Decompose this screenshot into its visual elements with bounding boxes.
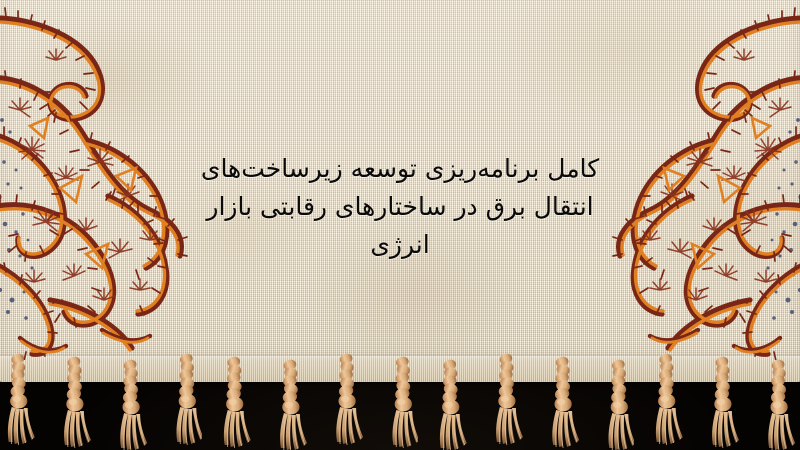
slide-title-line-2: انتقال برق در ساختارهای رقابتی بازار <box>150 188 650 226</box>
fringe-tassel <box>492 352 526 448</box>
fringe-tassel <box>114 358 148 450</box>
fringe-tassel <box>276 358 310 450</box>
fringe-tassel <box>330 352 364 448</box>
fringe-tassel <box>60 355 94 450</box>
slide-canvas: کامل برنامه‌ریزی توسعه زیرساخت‌های انتقا… <box>0 0 800 450</box>
slide-title-line-1: کامل برنامه‌ریزی توسعه زیرساخت‌های <box>150 150 650 188</box>
fringe-tassel <box>546 355 580 450</box>
fringe-tassel <box>438 358 472 450</box>
slide-title-line-3: انرژی <box>150 226 650 264</box>
fringe-tassel <box>168 352 202 448</box>
fringe-tassel <box>654 352 688 448</box>
fringe-tassel <box>384 355 418 450</box>
fringe-tassel <box>762 358 796 450</box>
slide-title-block: کامل برنامه‌ریزی توسعه زیرساخت‌های انتقا… <box>150 150 650 264</box>
fringe-tassel-row <box>0 352 800 450</box>
fringe-tassel <box>222 355 256 450</box>
fringe-tassel <box>708 355 742 450</box>
fringe-tassel <box>6 352 40 448</box>
fringe-tassel <box>600 358 634 450</box>
